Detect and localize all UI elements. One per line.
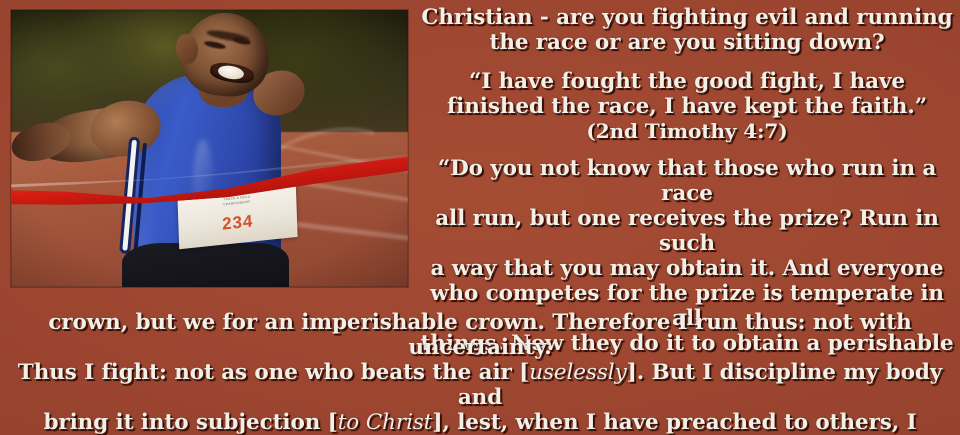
verse-corinthians-bottom: crown, but we for an imperishable crown.… <box>4 311 956 435</box>
line-7-bracketed-gloss: uselessly <box>529 360 626 385</box>
headline-line-2: the race or are you sitting down? <box>414 31 960 56</box>
race-bib-number: 234 <box>178 207 297 239</box>
verse-timothy-line-2: finished the race, I have kept the faith… <box>414 95 960 120</box>
runner-photo: TRACK & FIELD CHAMPIONSHIP 234 <box>11 10 408 287</box>
verse-corinthians-line-8: bring it into subjection [to Christ], le… <box>4 411 956 435</box>
verse-corinthians-line-1: “Do you not know that those who run in a… <box>414 157 960 207</box>
line-8-bracketed-gloss: to Christ <box>338 410 433 435</box>
photo-canvas: TRACK & FIELD CHAMPIONSHIP 234 <box>11 10 408 287</box>
verse-timothy-reference: (2nd Timothy 4:7) <box>414 120 960 143</box>
runner-figure: TRACK & FIELD CHAMPIONSHIP 234 <box>11 10 408 287</box>
verse-corinthians-line-6: crown, but we for an imperishable crown.… <box>4 311 956 361</box>
headline-line-1: Christian - are you fighting evil and ru… <box>414 6 960 31</box>
verse-corinthians-line-2: all run, but one receives the prize? Run… <box>414 207 960 257</box>
line-7-part-a: Thus I fight: not as one who beats the a… <box>18 360 529 385</box>
verse-timothy-line-1: “I have fought the good fight, I have <box>414 70 960 95</box>
line-8-part-b: ], lest, when I have preached to others,… <box>432 410 916 435</box>
verse-corinthians-line-7: Thus I fight: not as one who beats the a… <box>4 361 956 411</box>
runner-shorts <box>122 243 289 287</box>
right-text-column: Christian - are you fighting evil and ru… <box>414 0 960 356</box>
verse-corinthians-line-3: a way that you may obtain it. And everyo… <box>414 257 960 282</box>
line-8-part-a: bring it into subjection [ <box>43 410 337 435</box>
scripture-poster: TRACK & FIELD CHAMPIONSHIP 234 Christian… <box>0 0 960 435</box>
verse-timothy: “I have fought the good fight, I have fi… <box>414 56 960 143</box>
headline: Christian - are you fighting evil and ru… <box>414 0 960 56</box>
